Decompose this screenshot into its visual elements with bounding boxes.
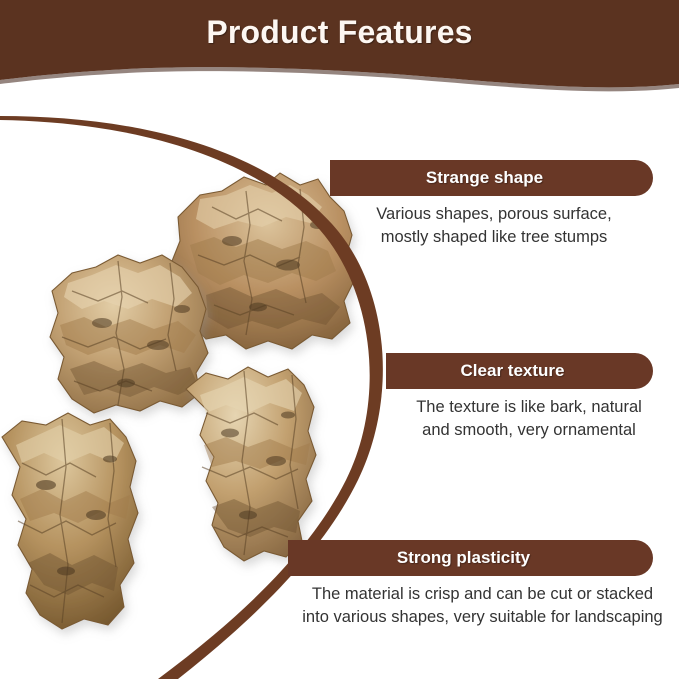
header-banner: Product Features [0, 0, 679, 95]
feature-title-label: Strong plasticity [397, 548, 544, 568]
description-line: The texture is like bark, natural [384, 396, 674, 419]
infographic-canvas: Product Features [0, 0, 679, 679]
page-title: Product Features [0, 14, 679, 51]
feature-clear-texture: Clear texture The texture is like bark, … [386, 353, 679, 442]
description-line: Various shapes, porous surface, [344, 203, 644, 226]
feature-title-pill: Strong plasticity [288, 540, 653, 576]
feature-title-label: Strange shape [426, 168, 557, 188]
feature-title-label: Clear texture [461, 361, 579, 381]
description-line: into various shapes, very suitable for l… [290, 606, 675, 629]
feature-strong-plasticity: Strong plasticity The material is crisp … [288, 540, 679, 629]
feature-description: The texture is like bark, natural and sm… [384, 396, 674, 442]
feature-title-pill: Clear texture [386, 353, 653, 389]
feature-strange-shape: Strange shape Various shapes, porous sur… [330, 160, 679, 249]
description-line: The material is crisp and can be cut or … [290, 583, 675, 606]
feature-description: The material is crisp and can be cut or … [290, 583, 675, 629]
feature-title-pill: Strange shape [330, 160, 653, 196]
description-line: and smooth, very ornamental [384, 419, 674, 442]
feature-description: Various shapes, porous surface, mostly s… [344, 203, 644, 249]
rock-bottom-right [186, 367, 316, 561]
description-line: mostly shaped like tree stumps [344, 226, 644, 249]
rock-middle-left [50, 255, 208, 413]
rock-bottom-left [2, 413, 138, 629]
